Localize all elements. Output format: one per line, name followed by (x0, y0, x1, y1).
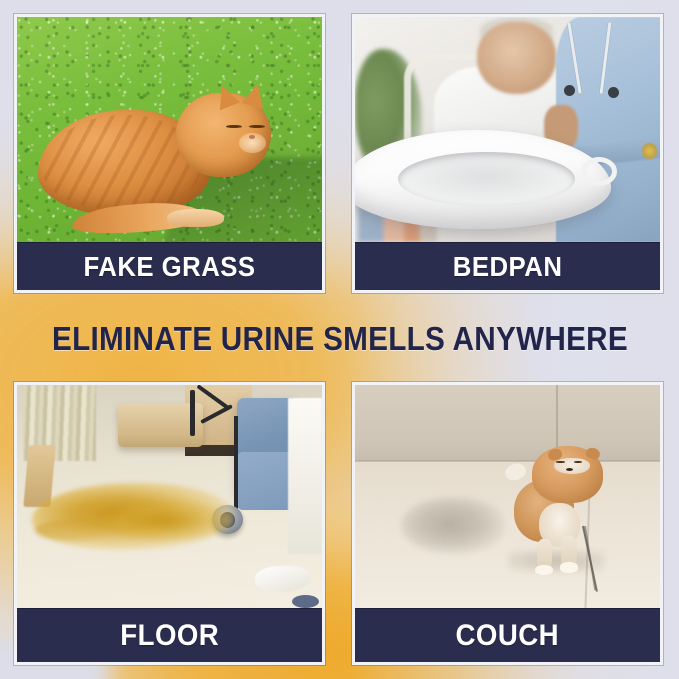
photo-bedpan (355, 17, 660, 243)
puppy-head (532, 446, 603, 503)
stethoscope-earpiece-left (564, 85, 575, 96)
headline-banner: ELIMINATE URINE SMELLS ANYWHERE (0, 316, 679, 362)
cat-ear-right (241, 81, 268, 108)
caption-label-couch: COUCH (456, 619, 560, 653)
cat-eye-right (249, 125, 265, 129)
couch-scene (355, 385, 660, 608)
cat-nose (249, 135, 256, 139)
caption-label-bedpan: BEDPAN (453, 251, 563, 283)
puppy-paw-right (560, 562, 578, 572)
patient-head (477, 22, 556, 94)
caption-bar-floor: FLOOR (17, 609, 322, 662)
cat-figure (38, 85, 276, 225)
puppy-figure (508, 441, 612, 570)
grass-scene (17, 17, 322, 242)
stethoscope-earpiece-right (608, 87, 619, 98)
nurse-belt-buckle (642, 143, 657, 159)
caption-bar-fake-grass: FAKE GRASS (17, 243, 322, 290)
puppy-nose (566, 468, 574, 471)
shoe (292, 595, 319, 608)
photo-fake-grass (17, 17, 322, 243)
cat-head (176, 93, 271, 177)
photo-couch (355, 385, 660, 609)
urine-puddle-core (102, 501, 230, 541)
caption-bar-bedpan: BEDPAN (355, 243, 660, 290)
poster-canvas: FAKE GRASS (0, 0, 679, 679)
photo-floor (17, 385, 322, 609)
panel-floor[interactable]: FLOOR (14, 382, 325, 665)
bedpan-basin (398, 152, 575, 206)
caption-label-floor: FLOOR (120, 619, 219, 653)
urine-streak (35, 519, 114, 541)
cat-eye-left (226, 125, 242, 129)
bedpan-scene (355, 17, 660, 242)
panel-bedpan[interactable]: BEDPAN (352, 14, 663, 293)
floor-scene (17, 385, 322, 608)
chair-pole (234, 416, 238, 514)
headline-text: ELIMINATE URINE SMELLS ANYWHERE (51, 320, 627, 358)
urine-stain (401, 497, 505, 555)
panel-couch[interactable]: COUCH (352, 382, 663, 665)
bedpan-handle (581, 157, 618, 186)
white-drape (288, 398, 322, 554)
bed-frame-bar-2 (200, 404, 233, 424)
crumpled-tissue (255, 566, 310, 593)
cat-paw (167, 209, 224, 227)
puppy-ear-right (585, 446, 601, 460)
panel-fake-grass[interactable]: FAKE GRASS (14, 14, 325, 293)
caption-bar-couch: COUCH (355, 609, 660, 662)
stethoscope-tube-right (600, 22, 612, 94)
stethoscope-tube-left (567, 22, 581, 94)
stethoscope-icon (556, 22, 648, 94)
cat-ear-left (212, 82, 241, 111)
bed-frame-bar-3 (190, 390, 195, 436)
puppy-tail (504, 461, 529, 482)
puppy-paw-left (535, 565, 553, 575)
caption-label-fake-grass: FAKE GRASS (83, 251, 255, 283)
